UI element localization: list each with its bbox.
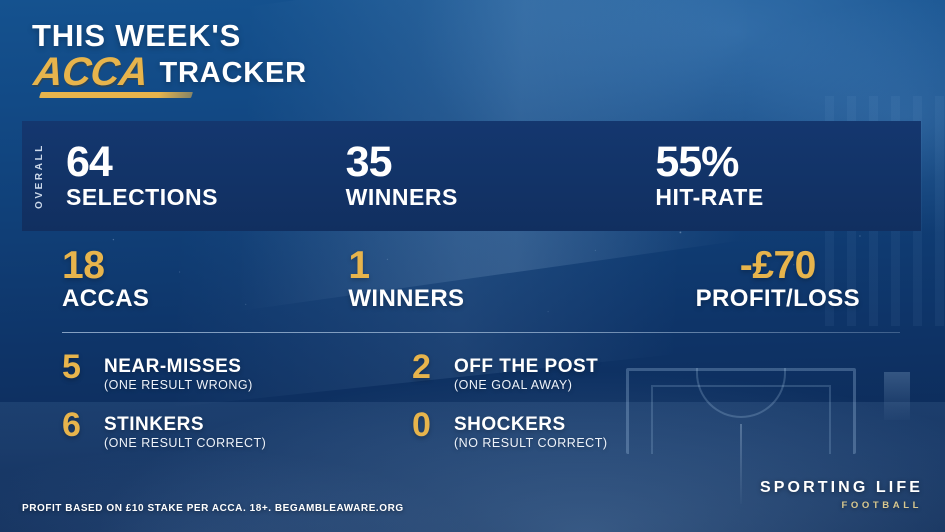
detail-stat-value: 0 xyxy=(412,411,454,441)
overall-stat-label: HIT-RATE xyxy=(655,185,921,209)
acca-logo-text: ACCA xyxy=(30,53,152,91)
detail-stat-text: SHOCKERS (NO RESULT CORRECT) xyxy=(454,411,608,451)
header-line-1: THIS WEEK'S xyxy=(32,20,307,52)
acca-detail-grid: 5 NEAR-MISSES (ONE RESULT WRONG) 2 OFF T… xyxy=(62,353,925,468)
brand-name: SPORTING LIFE xyxy=(760,480,923,496)
detail-stat-title: NEAR-MISSES xyxy=(104,357,253,377)
acca-detail-row: 6 STINKERS (ONE RESULT CORRECT) 0 SHOCKE… xyxy=(62,411,925,451)
acca-stat-value: 18 xyxy=(62,248,348,285)
acca-stat-accas: 18 ACCAS xyxy=(62,248,348,311)
page-header: THIS WEEK'S ACCA TRACKER xyxy=(32,20,307,91)
detail-stat-value: 5 xyxy=(62,353,104,383)
overall-stat-hit-rate: 55% HIT-RATE xyxy=(655,143,921,209)
overall-stats-panel: OVERALL 64 SELECTIONS 35 WINNERS 55% HIT… xyxy=(22,121,921,231)
acca-stat-label: ACCAS xyxy=(62,286,348,311)
overall-stat-value: 55% xyxy=(655,143,921,183)
detail-stat-value: 2 xyxy=(412,353,454,383)
acca-stat-profit-loss: -£70 PROFIT/LOSS xyxy=(635,248,921,311)
overall-stat-columns: 64 SELECTIONS 35 WINNERS 55% HIT-RATE xyxy=(66,121,921,231)
brand-subtitle: FOOTBALL xyxy=(760,501,922,511)
section-divider xyxy=(62,332,900,333)
detail-stat-text: NEAR-MISSES (ONE RESULT WRONG) xyxy=(104,353,253,393)
acca-stat-winners: 1 WINNERS xyxy=(348,248,634,311)
acca-stat-value: -£70 xyxy=(635,248,921,285)
overall-stat-value: 64 xyxy=(66,143,332,183)
detail-stat-subtitle: (ONE GOAL AWAY) xyxy=(454,379,598,393)
detail-stat-text: OFF THE POST (ONE GOAL AWAY) xyxy=(454,353,598,393)
acca-detail-stinkers: 6 STINKERS (ONE RESULT CORRECT) xyxy=(62,411,412,451)
overall-section-label: OVERALL xyxy=(34,143,45,209)
acca-underline-stroke xyxy=(39,92,193,98)
detail-stat-subtitle: (ONE RESULT WRONG) xyxy=(104,379,253,393)
acca-stat-value: 1 xyxy=(348,248,634,285)
detail-stat-title: STINKERS xyxy=(104,415,266,435)
detail-stat-title: OFF THE POST xyxy=(454,357,598,377)
overall-stat-selections: 64 SELECTIONS xyxy=(66,143,332,209)
overall-stat-value: 35 xyxy=(346,143,612,183)
detail-stat-subtitle: (NO RESULT CORRECT) xyxy=(454,437,608,451)
acca-detail-off-the-post: 2 OFF THE POST (ONE GOAL AWAY) xyxy=(412,353,762,393)
acca-top-stat-row: 18 ACCAS 1 WINNERS -£70 PROFIT/LOSS xyxy=(62,248,921,326)
overall-stat-winners: 35 WINNERS xyxy=(346,143,612,209)
detail-stat-text: STINKERS (ONE RESULT CORRECT) xyxy=(104,411,266,451)
overall-stat-label: WINNERS xyxy=(346,185,612,209)
detail-stat-value: 6 xyxy=(62,411,104,441)
detail-stat-title: SHOCKERS xyxy=(454,415,608,435)
acca-stat-label: WINNERS xyxy=(348,286,634,311)
acca-detail-near-misses: 5 NEAR-MISSES (ONE RESULT WRONG) xyxy=(62,353,412,393)
overall-stat-label: SELECTIONS xyxy=(66,185,332,209)
responsible-gambling-note: PROFIT BASED ON £10 STAKE PER ACCA. 18+.… xyxy=(22,503,404,514)
header-line-2: ACCA TRACKER xyxy=(32,53,307,91)
acca-detail-row: 5 NEAR-MISSES (ONE RESULT WRONG) 2 OFF T… xyxy=(62,353,925,393)
acca-stat-label: PROFIT/LOSS xyxy=(635,286,921,311)
sporting-life-logo: SPORTING LIFE FOOTBALL xyxy=(760,480,923,511)
header-tracker-text: TRACKER xyxy=(160,59,307,91)
detail-stat-subtitle: (ONE RESULT CORRECT) xyxy=(104,437,266,451)
acca-detail-shockers: 0 SHOCKERS (NO RESULT CORRECT) xyxy=(412,411,762,451)
